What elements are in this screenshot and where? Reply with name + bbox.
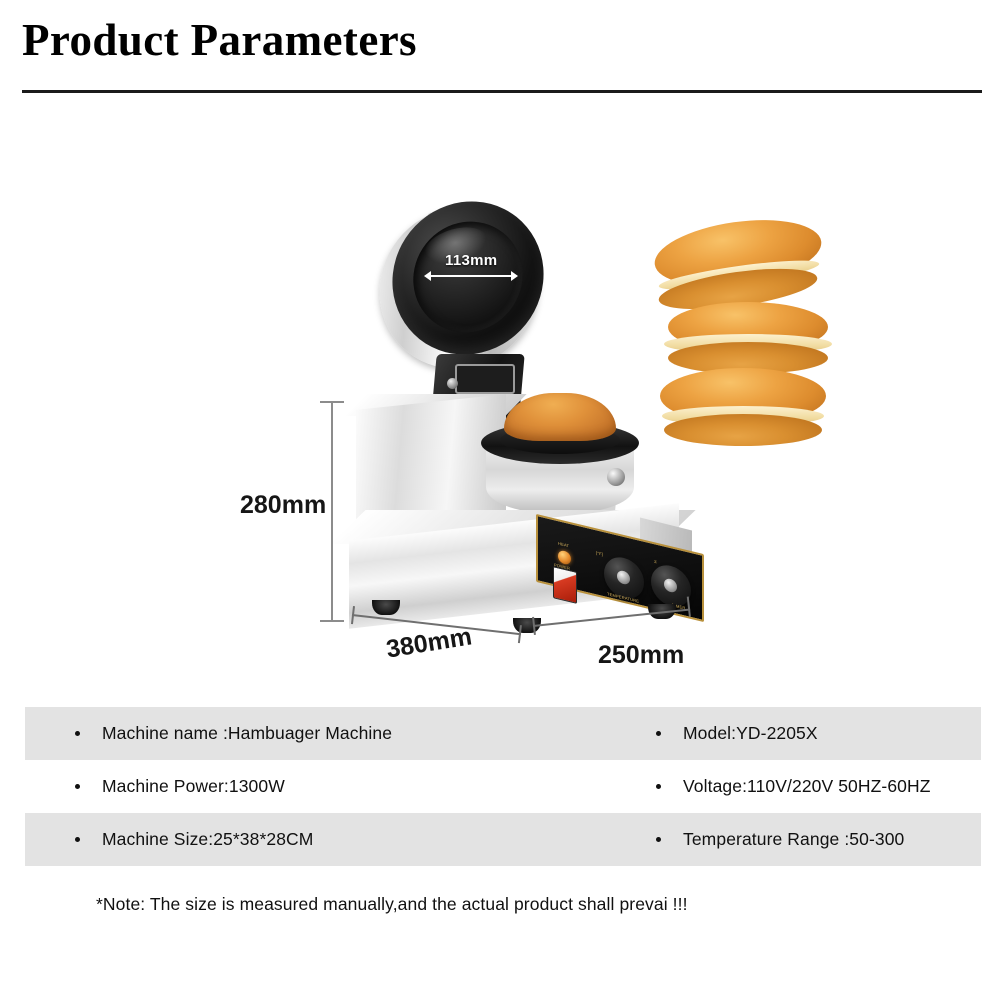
spec-value: Voltage:110V/220V 50HZ-60HZ [683, 776, 931, 797]
bun-on-plate [504, 393, 616, 441]
specifications-table: Machine name :Hambuager Machine Model:YD… [25, 707, 981, 866]
bullet-icon [75, 837, 80, 842]
timer-icon: ⧖ [654, 559, 657, 565]
product-illustration: 113mm HEAT POWER [°F] TEMPERATURE [0, 96, 1000, 696]
spec-value: Temperature Range :50-300 [683, 829, 904, 850]
dimension-label-height: 280mm [240, 491, 326, 520]
burger-stack-image [638, 216, 868, 536]
spec-cell-voltage: Voltage:110V/220V 50HZ-60HZ [595, 776, 981, 797]
spec-cell-model: Model:YD-2205X [595, 723, 981, 744]
dimension-label-plate-diameter: 113mm [445, 252, 497, 269]
machine-foot-front-left [372, 600, 400, 615]
spec-cell-machine-power: Machine Power:1300W [25, 776, 595, 797]
dimension-label-depth: 380mm [384, 622, 474, 664]
spec-value: Machine name :Hambuager Machine [102, 723, 392, 744]
page-title: Product Parameters [22, 14, 417, 66]
burger-bottom-base [664, 414, 822, 446]
bullet-icon [75, 784, 80, 789]
bullet-icon [656, 837, 661, 842]
bullet-icon [656, 731, 661, 736]
dimension-label-width: 250mm [598, 641, 684, 670]
table-row: Machine Power:1300W Voltage:110V/220V 50… [25, 760, 981, 813]
hinge-bolt-left [447, 378, 458, 389]
spec-cell-machine-name: Machine name :Hambuager Machine [25, 723, 595, 744]
note-text: *Note: The size is measured manually,and… [96, 894, 688, 915]
spec-value: Model:YD-2205X [683, 723, 818, 744]
table-row: Machine name :Hambuager Machine Model:YD… [25, 707, 981, 760]
table-row: Machine Size:25*38*28CM Temperature Rang… [25, 813, 981, 866]
spec-value: Machine Size:25*38*28CM [102, 829, 313, 850]
dimension-line-height [331, 401, 333, 622]
dimension-line-plate-diameter [430, 275, 512, 277]
power-rocker-switch[interactable] [553, 566, 577, 604]
bullet-icon [75, 731, 80, 736]
spec-value: Machine Power:1300W [102, 776, 285, 797]
title-divider [22, 90, 982, 93]
hinge-latch-slot [455, 364, 515, 394]
lower-plate-pivot-knob [607, 468, 625, 486]
spec-cell-temperature-range: Temperature Range :50-300 [595, 829, 981, 850]
bullet-icon [656, 784, 661, 789]
spec-cell-machine-size: Machine Size:25*38*28CM [25, 829, 595, 850]
